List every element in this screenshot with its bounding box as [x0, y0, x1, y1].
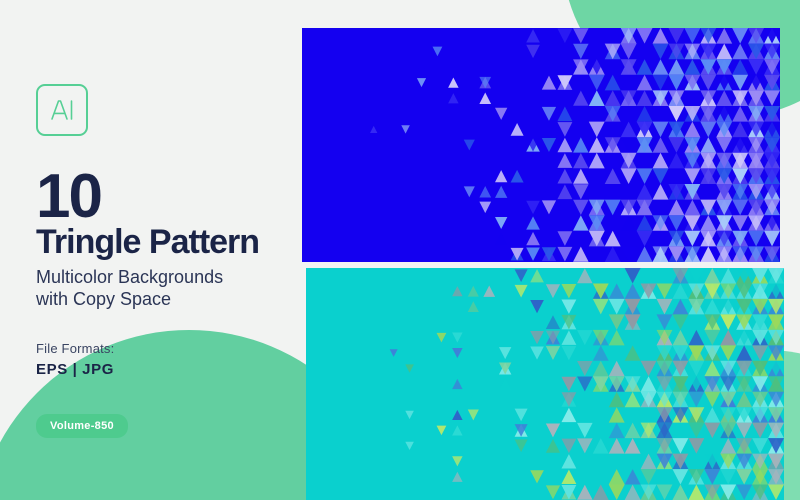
blue-pattern-canvas: [302, 28, 780, 262]
subtitle-line-2: with Copy Space: [36, 288, 223, 310]
poster-canvas: 10 Tringle Pattern Multicolor Background…: [0, 0, 800, 500]
file-formats-value: EPS | JPG: [36, 361, 114, 378]
info-column: 10 Tringle Pattern Multicolor Background…: [36, 0, 298, 500]
volume-badge: Volume-850: [36, 414, 128, 438]
page-title: Tringle Pattern: [36, 224, 259, 260]
teal-triangle-pattern-panel: [306, 268, 784, 500]
blue-triangle-pattern-panel: [302, 28, 780, 262]
subtitle-line-1: Multicolor Backgrounds: [36, 266, 223, 288]
pack-count: 10: [36, 168, 101, 226]
ai-icon: [47, 95, 77, 125]
ai-format-badge: [36, 84, 88, 136]
page-subtitle: Multicolor Backgrounds with Copy Space: [36, 266, 223, 310]
teal-pattern-canvas: [306, 268, 784, 500]
file-formats-label: File Formats:: [36, 341, 114, 356]
